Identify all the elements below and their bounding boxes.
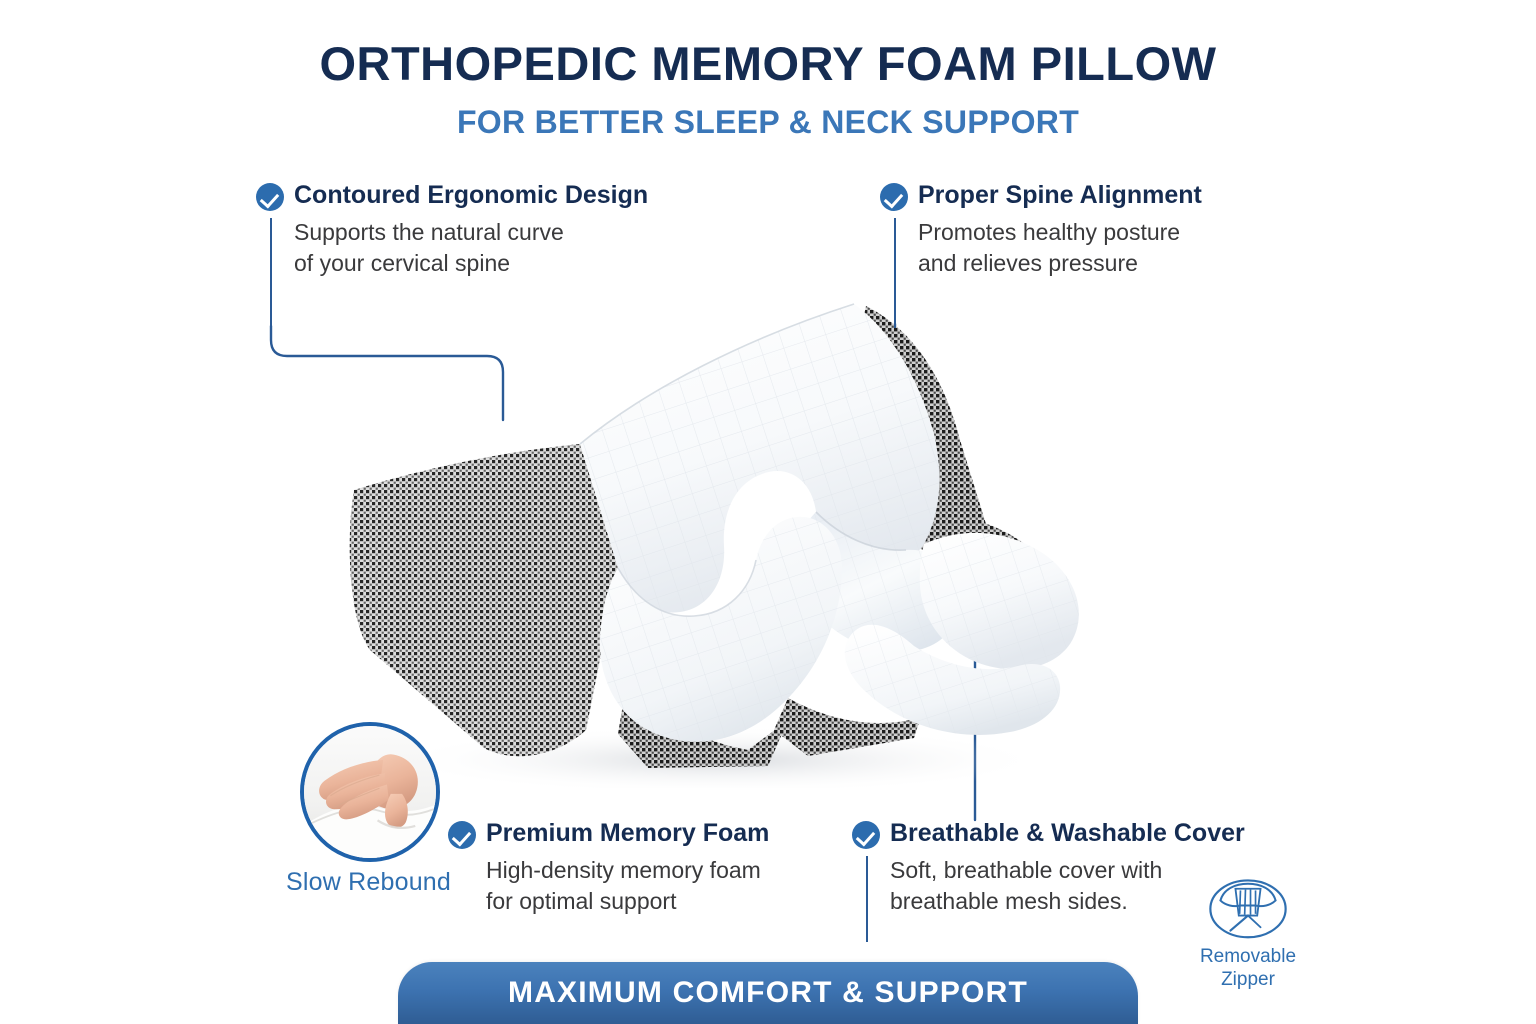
feature-desc-line1: Supports the natural curve (294, 217, 648, 248)
badge-caption-line1: Removable (1188, 946, 1308, 969)
zipper-icon (1202, 872, 1294, 944)
callout-stub-line (894, 218, 896, 328)
callout-stub-line (866, 856, 868, 942)
badge-caption-line2: Zipper (1188, 969, 1308, 992)
infographic-canvas: ORTHOPEDIC MEMORY FOAM PILLOW FOR BETTER… (0, 0, 1536, 1024)
feature-title: Breathable & Washable Cover (890, 820, 1245, 846)
feature-premium-memory-foam: Premium Memory Foam High-density memory … (448, 820, 769, 918)
feature-desc-line2: of your cervical spine (294, 248, 648, 279)
feature-title: Proper Spine Alignment (918, 182, 1202, 208)
page-title: ORTHOPEDIC MEMORY FOAM PILLOW (0, 36, 1536, 91)
feature-desc-line1: Promotes healthy posture (918, 217, 1202, 248)
feature-desc-line1: High-density memory foam (486, 855, 769, 886)
bottom-banner: MAXIMUM COMFORT & SUPPORT (398, 962, 1138, 1024)
badge-caption: Slow Rebound (286, 868, 428, 897)
check-icon (448, 821, 476, 849)
check-icon (256, 183, 284, 211)
feature-contoured-ergonomic-design: Contoured Ergonomic Design Supports the … (256, 182, 648, 280)
page-subtitle: FOR BETTER SLEEP & NECK SUPPORT (0, 104, 1536, 141)
feature-desc-line2: for optimal support (486, 886, 769, 917)
badge-removable-zipper: Removable Zipper (1188, 872, 1308, 992)
feature-desc-line2: and relieves pressure (918, 248, 1202, 279)
banner-text: MAXIMUM COMFORT & SUPPORT (508, 976, 1028, 1010)
hand-pressing-foam-icon (300, 722, 440, 862)
product-image-pillow (318, 268, 1118, 788)
feature-title: Premium Memory Foam (486, 820, 769, 846)
check-icon (880, 183, 908, 211)
feature-proper-spine-alignment: Proper Spine Alignment Promotes healthy … (880, 182, 1202, 280)
callout-stub-line (270, 218, 272, 330)
feature-title: Contoured Ergonomic Design (294, 182, 648, 208)
feature-breathable-washable-cover: Breathable & Washable Cover Soft, breath… (852, 820, 1245, 918)
badge-slow-rebound: Slow Rebound (300, 722, 442, 897)
check-icon (852, 821, 880, 849)
